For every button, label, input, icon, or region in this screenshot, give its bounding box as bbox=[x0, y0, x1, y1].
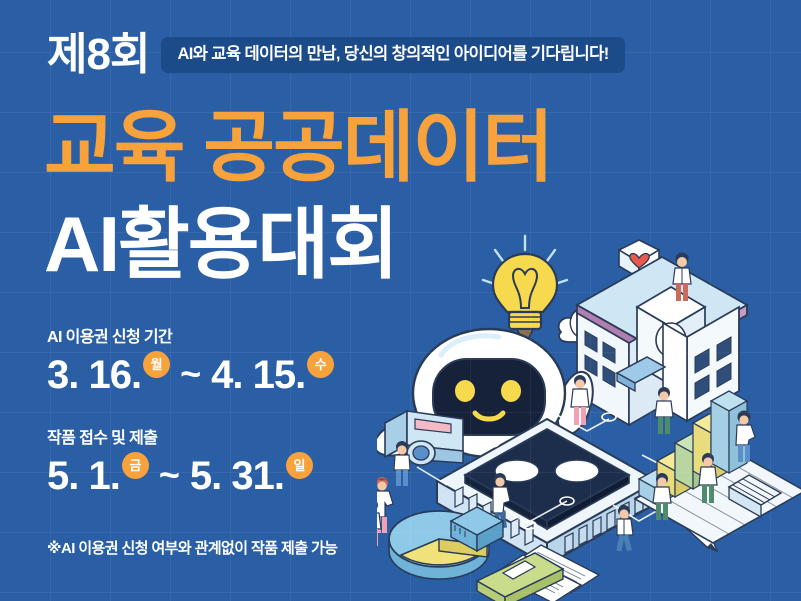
schedule-block-application: AI 이용권 신청 기간 3. 16. 월 ~ 4. 15. 수 bbox=[47, 330, 334, 395]
schedule-block-submission: 작품 접수 및 제출 5. 1. 금 ~ 5. 31. 일 bbox=[47, 431, 313, 496]
start-day-badge: 금 bbox=[122, 452, 149, 479]
schedule-label: 작품 접수 및 제출 bbox=[47, 431, 313, 447]
poster-canvas: 제8회 AI와 교육 데이터의 만남, 당신의 창의적인 아이디어를 기다립니다… bbox=[0, 0, 801, 601]
page-title-line1: 교육 공공데이터 bbox=[44, 108, 552, 186]
start-day-badge: 월 bbox=[143, 351, 170, 378]
date-separator: ~ bbox=[180, 355, 201, 393]
end-day-badge: 일 bbox=[286, 452, 313, 479]
footnote: ※AI 이용권 신청 여부와 관계없이 작품 제출 가능 bbox=[47, 537, 337, 558]
end-date: 4. 15. bbox=[211, 355, 305, 395]
schedule-date-range: 3. 16. 월 ~ 4. 15. 수 bbox=[47, 355, 334, 395]
poster-content: 제8회 AI와 교육 데이터의 만남, 당신의 창의적인 아이디어를 기다립니다… bbox=[0, 0, 801, 601]
header-row: 제8회 AI와 교육 데이터의 만남, 당신의 창의적인 아이디어를 기다립니다… bbox=[47, 33, 625, 77]
tagline-banner: AI와 교육 데이터의 만남, 당신의 창의적인 아이디어를 기다립니다! bbox=[161, 37, 624, 73]
page-title-line2: AI활용대회 bbox=[44, 205, 397, 283]
ordinal-label: 제8회 bbox=[47, 33, 149, 77]
start-date: 3. 16. bbox=[47, 355, 141, 395]
end-date: 5. 31. bbox=[190, 456, 284, 496]
date-separator: ~ bbox=[159, 456, 180, 494]
start-date: 5. 1. bbox=[47, 456, 120, 496]
end-day-badge: 수 bbox=[307, 351, 334, 378]
schedule-date-range: 5. 1. 금 ~ 5. 31. 일 bbox=[47, 456, 313, 496]
schedule-label: AI 이용권 신청 기간 bbox=[47, 330, 334, 346]
